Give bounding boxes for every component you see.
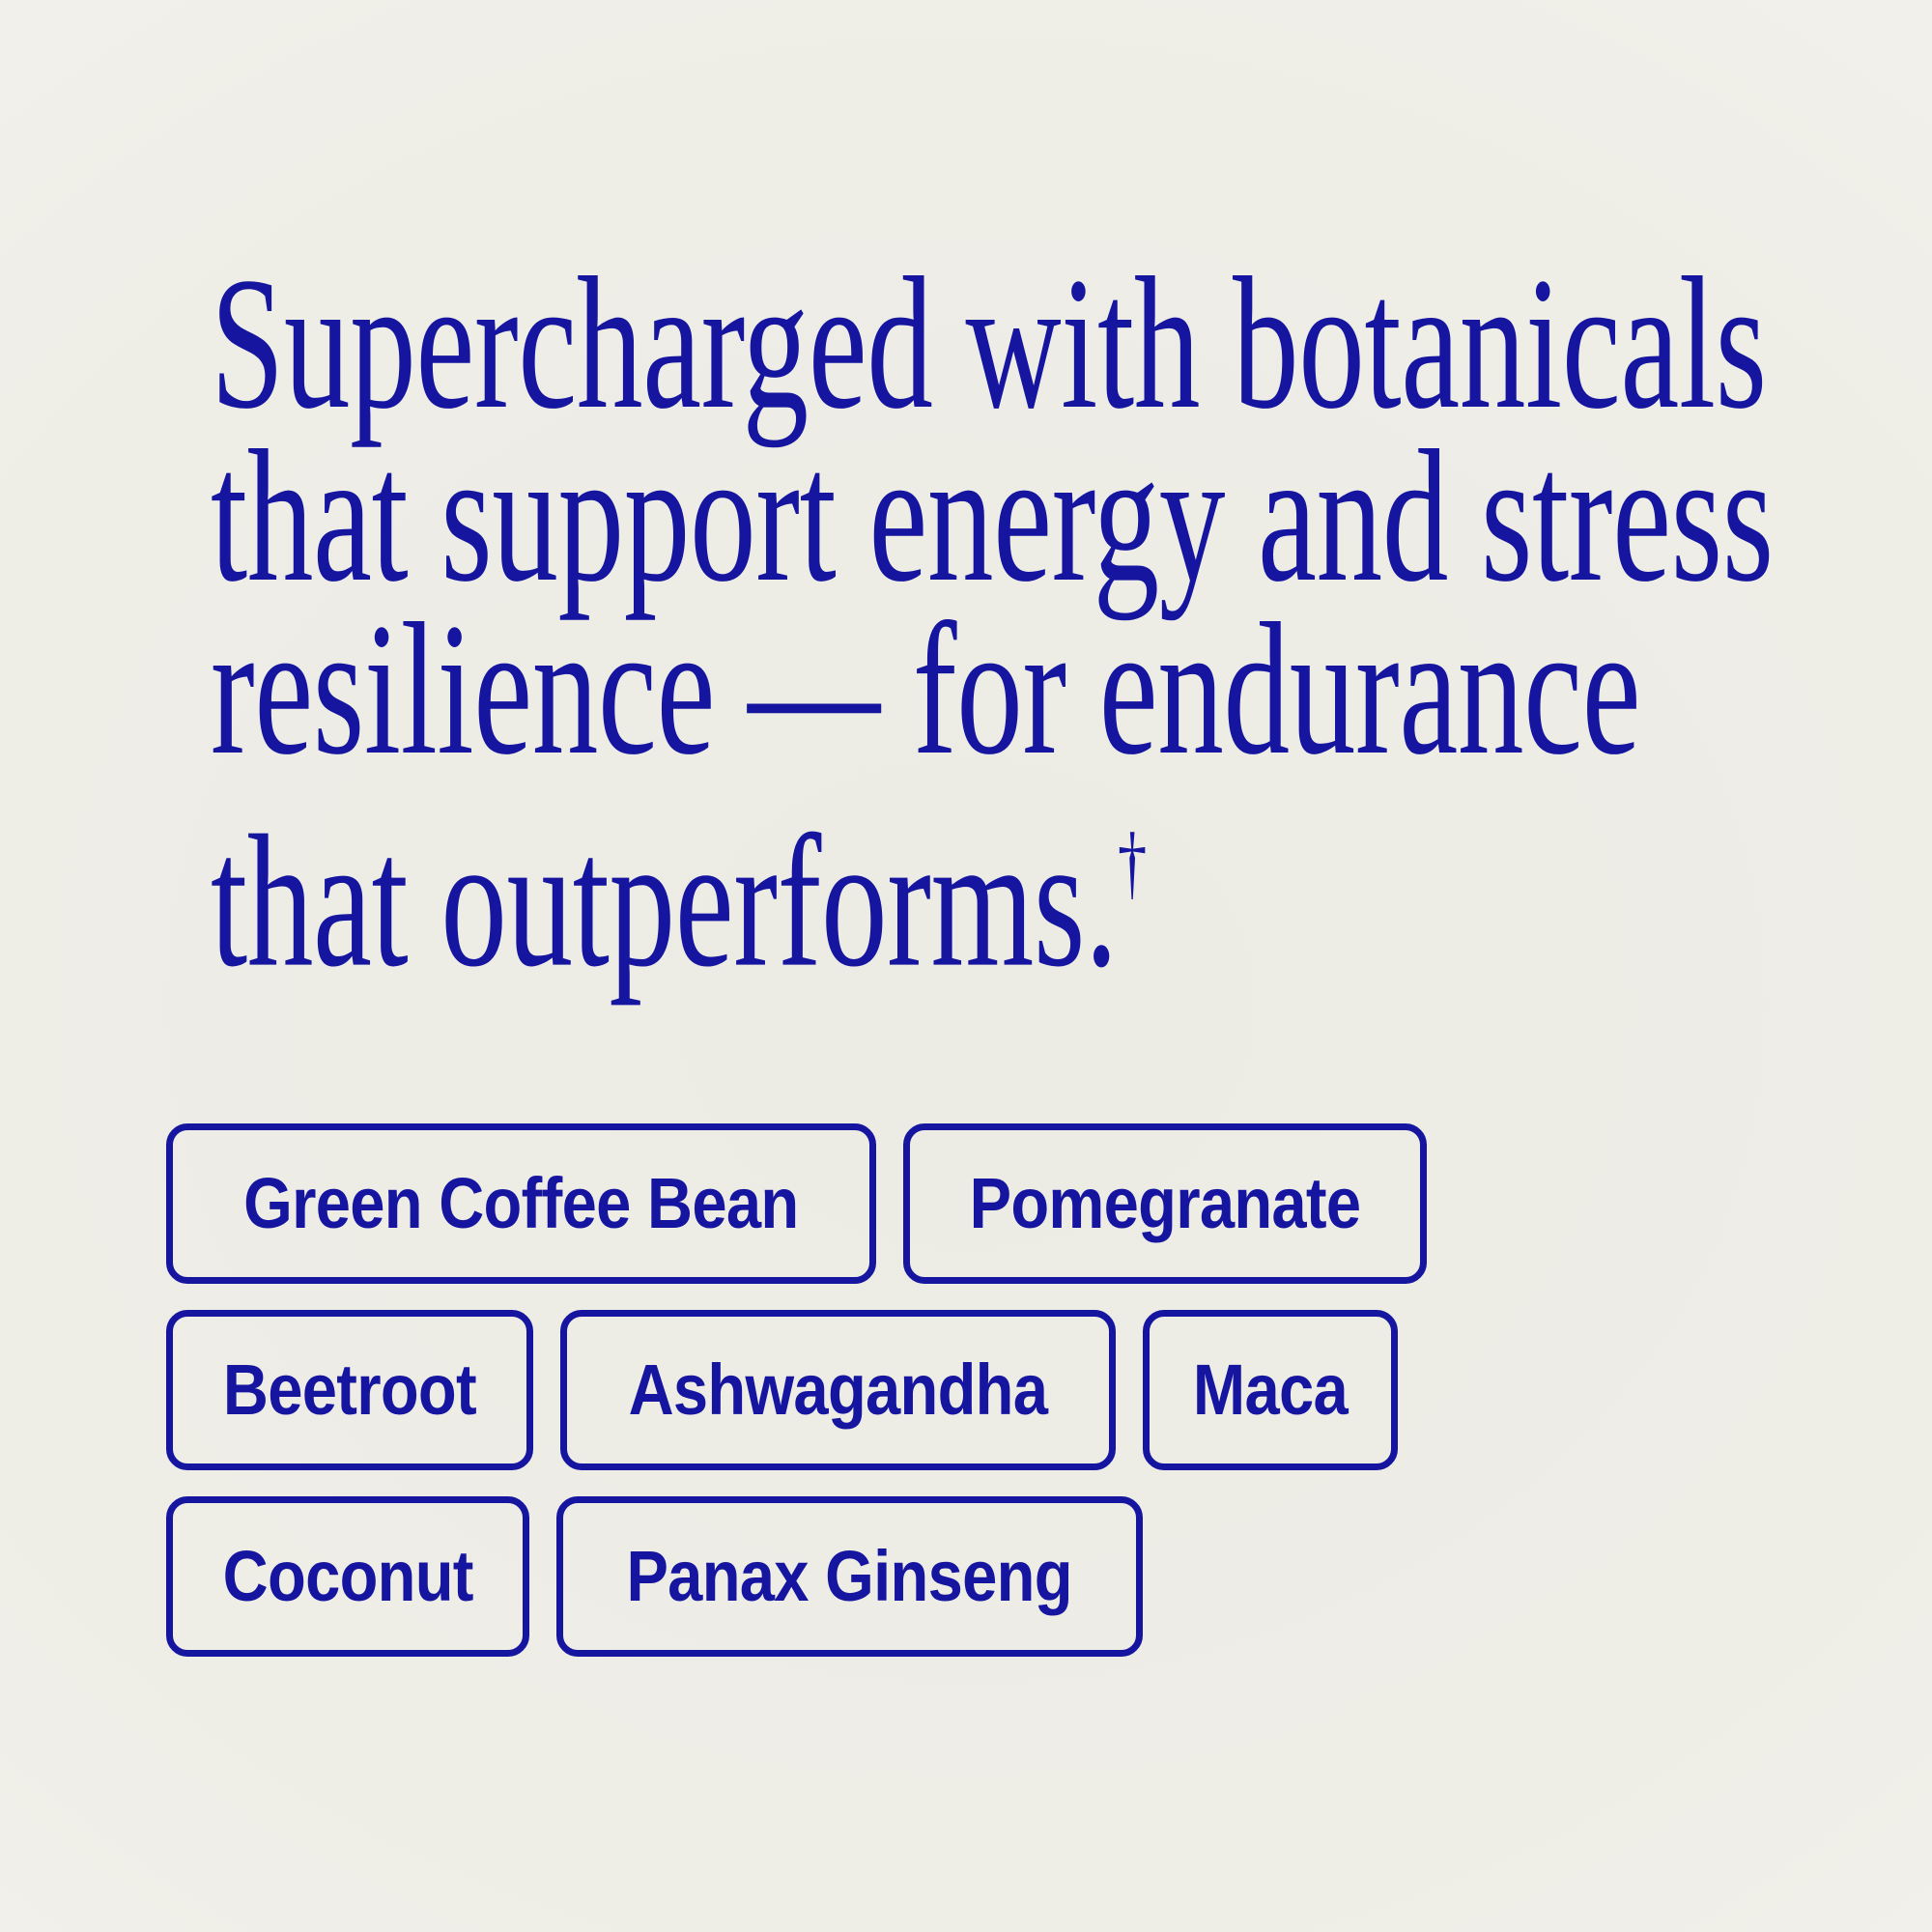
headline-line-4: that outperforms.†	[211, 776, 1279, 988]
ingredient-pill-pomegranate[interactable]: Pomegranate	[903, 1123, 1427, 1284]
page-headline: Supercharged with botanicals that suppor…	[211, 257, 1279, 988]
headline-line-2: that support energy and stress	[211, 430, 1279, 603]
ingredient-pill-label: Pomegranate	[969, 1168, 1360, 1239]
headline-line-1: Supercharged with botanicals	[211, 257, 1279, 430]
ingredient-row-1: Green Coffee Bean Pomegranate	[166, 1123, 1750, 1284]
ingredient-pill-panax-ginseng[interactable]: Panax Ginseng	[556, 1496, 1142, 1657]
ingredient-pill-beetroot[interactable]: Beetroot	[166, 1310, 533, 1470]
ingredient-pill-coconut[interactable]: Coconut	[166, 1496, 529, 1657]
footnote-dagger-icon: †	[1118, 815, 1147, 908]
ingredient-pill-group: Green Coffee Bean Pomegranate Beetroot A…	[166, 1123, 1750, 1657]
ingredient-pill-green-coffee-bean[interactable]: Green Coffee Bean	[166, 1123, 876, 1284]
ingredient-row-3: Coconut Panax Ginseng	[166, 1496, 1750, 1657]
ingredient-pill-label: Ashwagandha	[628, 1354, 1047, 1426]
ingredient-pill-label: Beetroot	[223, 1354, 476, 1426]
headline-line-4-text: that outperforms.	[211, 797, 1118, 1007]
ingredient-pill-label: Green Coffee Bean	[243, 1168, 798, 1239]
ingredient-pill-maca[interactable]: Maca	[1143, 1310, 1398, 1470]
ingredient-row-2: Beetroot Ashwagandha Maca	[166, 1310, 1750, 1470]
promo-panel: Supercharged with botanicals that suppor…	[0, 0, 1932, 1932]
ingredient-pill-label: Maca	[1193, 1354, 1348, 1426]
ingredient-pill-label: Coconut	[223, 1541, 473, 1612]
headline-line-3: resilience — for endurance	[211, 603, 1279, 776]
ingredient-pill-label: Panax Ginseng	[627, 1541, 1072, 1612]
ingredient-pill-ashwagandha[interactable]: Ashwagandha	[560, 1310, 1116, 1470]
